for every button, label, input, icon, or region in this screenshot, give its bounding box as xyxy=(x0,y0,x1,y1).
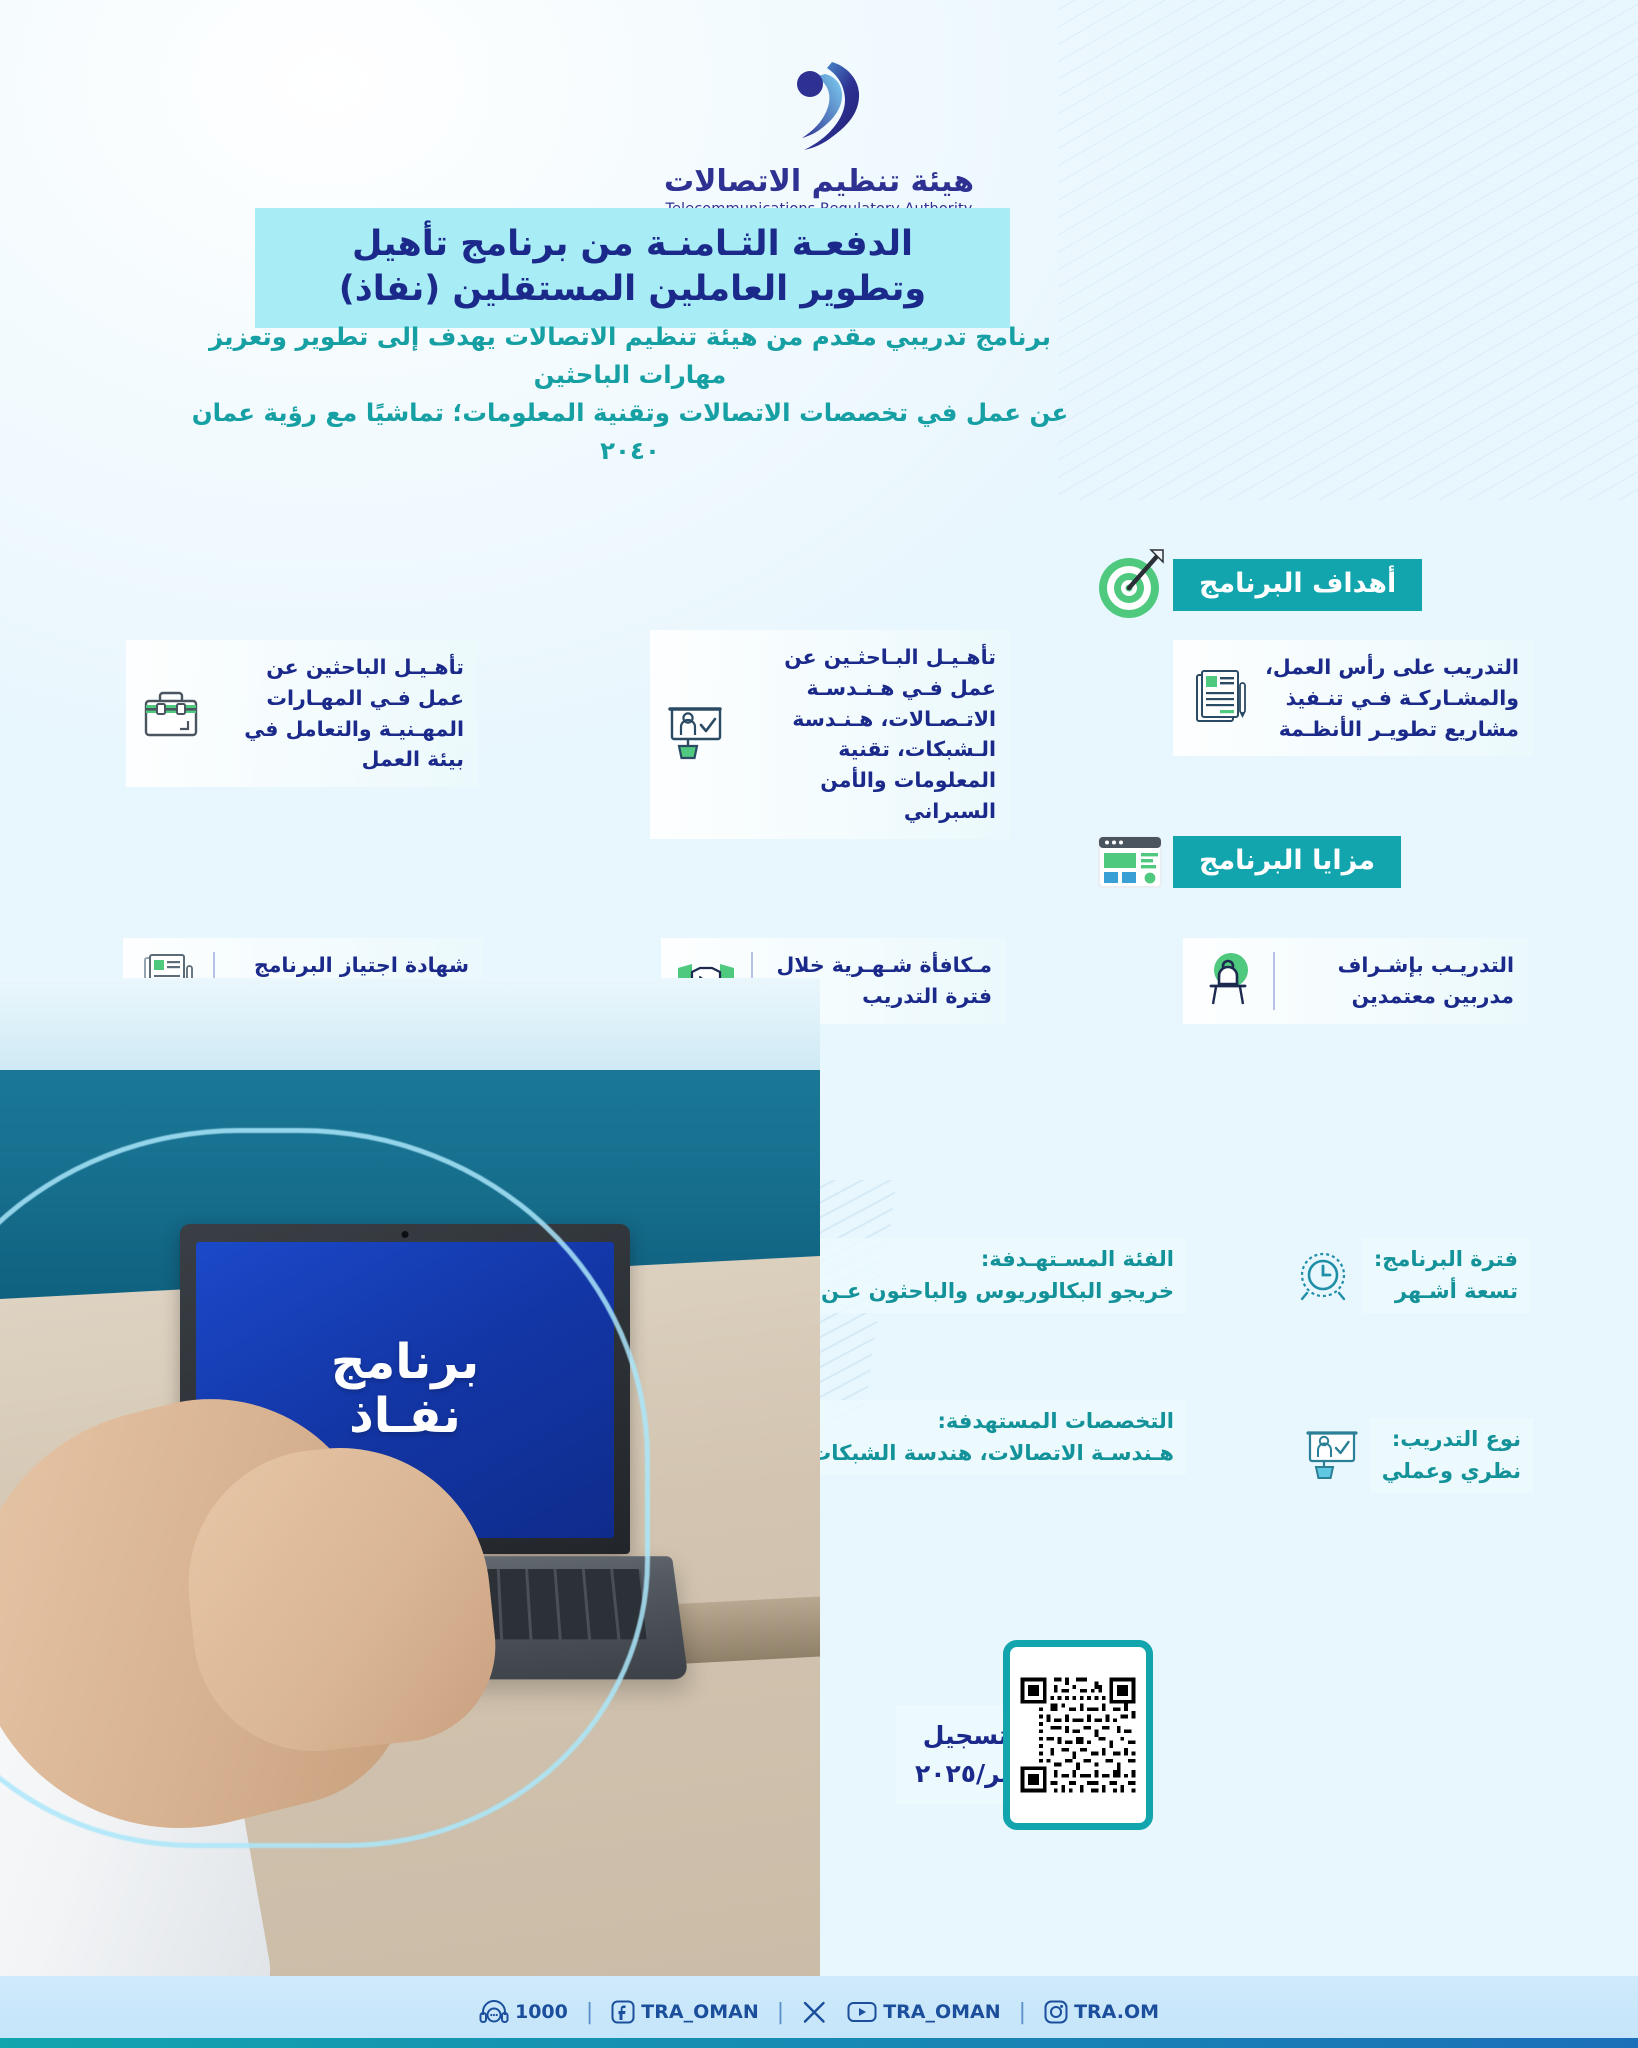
qr-code-icon[interactable] xyxy=(1003,1640,1153,1830)
goal-card-text: التدريب على رأس العمل، والمشـاركـة فـي ت… xyxy=(1263,652,1519,744)
poster-subtitle: برنامج تدريبي مقدم من هيئة تنظيم الاتصال… xyxy=(180,318,1080,470)
footer-instagram[interactable]: TRA.OM xyxy=(1044,2000,1159,2024)
tra-swirl-logo-icon xyxy=(776,58,862,158)
subtitle-line-2: عن عمل في تخصصات الاتصالات وتقنية المعلو… xyxy=(180,394,1080,470)
goal-card-telecom-engineering: تأهـيـل البـاحثـين عن عمل فـي هـنـدسـة ا… xyxy=(650,630,1010,839)
footer-accent-strip xyxy=(0,2038,1638,2048)
title-line-2: وتطوير العاملين المستقلين (نفاذ) xyxy=(281,267,984,312)
target-arrow-icon xyxy=(1093,548,1173,622)
footer-x-twitter[interactable] xyxy=(802,2000,833,2024)
subtitle-line-1: برنامج تدريبي مقدم من هيئة تنظيم الاتصال… xyxy=(180,318,1080,394)
footer-separator: | xyxy=(773,2000,788,2025)
detail-text: نوع التدريب: نظري وعملي xyxy=(1370,1418,1533,1493)
document-pen-icon xyxy=(1187,667,1249,729)
detail-program-duration: فترة البرنامج: تسعة أشـهر xyxy=(1294,1238,1530,1313)
headset-icon xyxy=(479,1999,509,2025)
footer-contact-label: 1000 xyxy=(515,2001,568,2023)
footer-facebook-label: TRA_OMAN xyxy=(641,2001,758,2023)
laptop-webcam-icon xyxy=(402,1231,409,1238)
youtube-icon xyxy=(847,2000,877,2024)
benefit-card-certified-trainers: التدريـب بإشـراف مدربين معتمدين xyxy=(1183,938,1528,1024)
footer-separator: | xyxy=(1015,2000,1030,2025)
poster-canvas: هيئة تنظيم الاتصالات Telecommunications … xyxy=(0,0,1638,2048)
detail-text: فترة البرنامج: تسعة أشـهر xyxy=(1362,1238,1530,1313)
presentation-person-icon xyxy=(1302,1427,1360,1485)
footer-youtube[interactable]: TRA_OMAN xyxy=(847,2000,1000,2024)
screen-text-line-1: برنامج xyxy=(331,1336,479,1390)
poster-title-banner: الدفعـة الثـامنـة من برنامج تأهيل وتطوير… xyxy=(255,208,1010,328)
detail-value: خريجو البكالوريوس والباحثون عـن عمل xyxy=(766,1276,1174,1308)
title-line-1: الدفعـة الثـامنـة من برنامج تأهيل xyxy=(281,222,984,267)
clock-icon xyxy=(1294,1247,1352,1305)
detail-training-type: نوع التدريب: نظري وعملي xyxy=(1302,1418,1533,1493)
briefcase-icon xyxy=(140,683,202,745)
benefit-card-divider xyxy=(1273,952,1275,1010)
goals-section-header: أهداف البرنامج xyxy=(1093,548,1422,622)
detail-label: الفئة المسـتهـدفة: xyxy=(766,1244,1174,1276)
benefits-heading-label: مزايا البرنامج xyxy=(1173,836,1401,888)
detail-value: نظري وعملي xyxy=(1382,1456,1521,1488)
footer-facebook[interactable]: TRA_OMAN xyxy=(611,2000,758,2024)
facebook-icon xyxy=(611,2000,635,2024)
footer-youtube-label: TRA_OMAN xyxy=(883,2001,1000,2023)
footer-instagram-label: TRA.OM xyxy=(1074,2001,1159,2023)
detail-label: نوع التدريب: xyxy=(1382,1424,1521,1456)
footer-contact-number[interactable]: 1000 xyxy=(479,1999,568,2025)
benefit-card-text: التدريـب بإشـراف مدربين معتمدين xyxy=(1289,950,1514,1012)
screen-text-line-2: نفـاذ xyxy=(331,1390,479,1444)
screen-program-name: برنامج نفـاذ xyxy=(331,1336,479,1444)
tra-logo-arabic-text: هيئة تنظيم الاتصالات xyxy=(664,164,974,199)
detail-label: فترة البرنامج: xyxy=(1374,1244,1518,1276)
goals-heading-label: أهداف البرنامج xyxy=(1173,559,1422,611)
instagram-icon xyxy=(1044,2000,1068,2024)
goal-card-training-on-job: التدريب على رأس العمل، والمشـاركـة فـي ت… xyxy=(1173,640,1533,756)
goal-card-professional-skills: تأهـيـل الباحثين عن عمل فـي المهـارات ال… xyxy=(126,640,478,787)
trainer-person-icon xyxy=(1197,950,1259,1012)
goal-card-text: تأهـيـل البـاحثـين عن عمل فـي هـنـدسـة ا… xyxy=(740,642,996,827)
footer-separator: | xyxy=(582,2000,597,2025)
detail-value: تسعة أشـهر xyxy=(1374,1276,1518,1308)
photo-wall-highlight xyxy=(0,978,820,1070)
dashboard-window-icon xyxy=(1093,825,1173,899)
tra-logo-block: هيئة تنظيم الاتصالات Telecommunications … xyxy=(0,58,1638,217)
benefits-section-header: مزايا البرنامج xyxy=(1093,825,1401,899)
laptop-photo: برنامج نفـاذ DELL xyxy=(0,978,820,2048)
presentation-person-icon xyxy=(664,703,726,765)
x-twitter-icon xyxy=(802,2000,827,2024)
goal-card-text: تأهـيـل الباحثين عن عمل فـي المهـارات ال… xyxy=(216,652,464,775)
